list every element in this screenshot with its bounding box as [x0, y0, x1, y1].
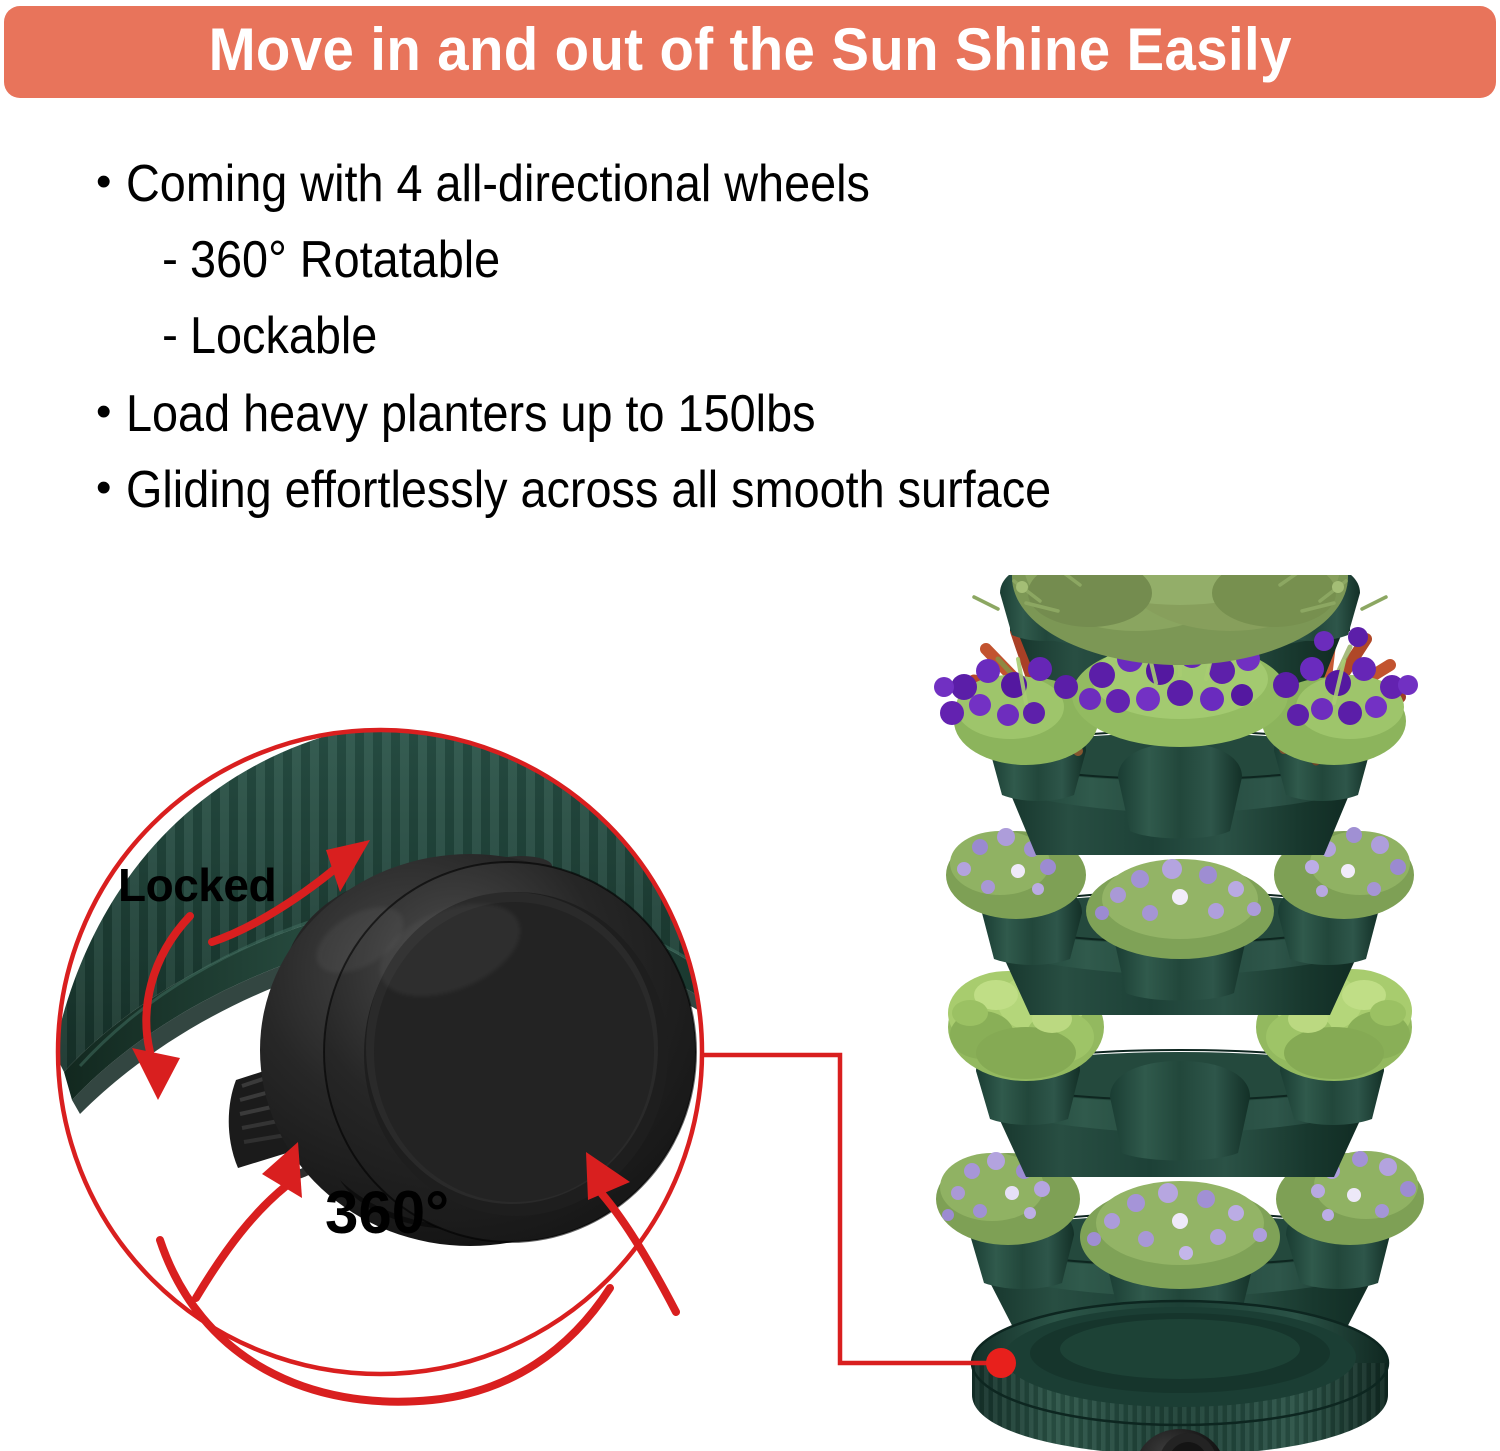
list-item: - Lockable — [96, 306, 1486, 366]
bullet-text: Gliding effortlessly across all smooth s… — [126, 460, 1051, 520]
feature-bullet-list: • Coming with 4 all-directional wheels -… — [96, 154, 1486, 520]
list-item: - 360° Rotatable — [96, 230, 1486, 290]
dash-marker-icon: - — [162, 306, 190, 366]
bullet-dot-icon: • — [96, 154, 126, 210]
caster-wheel-callout: Locked 360° — [40, 700, 760, 1410]
locked-label: Locked — [118, 858, 276, 912]
rotation-label: 360° — [325, 1178, 449, 1247]
planter-tower-illustration — [930, 575, 1430, 1451]
header-banner: Move in and out of the Sun Shine Easily — [4, 6, 1496, 98]
rotation-arc-left-icon — [196, 1142, 302, 1298]
bullet-dot-icon: • — [96, 384, 126, 440]
bullet-text: 360° Rotatable — [190, 230, 500, 290]
rotation-arc-bottom-icon — [160, 1240, 610, 1402]
list-item: • Coming with 4 all-directional wheels — [96, 154, 1486, 214]
list-item: • Gliding effortlessly across all smooth… — [96, 460, 1486, 520]
bullet-text: Load heavy planters up to 150lbs — [126, 384, 816, 444]
bullet-text: Lockable — [190, 306, 377, 366]
bullet-text: Coming with 4 all-directional wheels — [126, 154, 870, 214]
dash-marker-icon: - — [162, 230, 190, 290]
banner-title: Move in and out of the Sun Shine Easily — [208, 20, 1291, 84]
caster-detail-illustration — [40, 700, 760, 1410]
rolling-plant-caddy — [972, 1301, 1388, 1451]
bullet-dot-icon: • — [96, 460, 126, 516]
list-item: • Load heavy planters up to 150lbs — [96, 384, 1486, 444]
stackable-planter-tower — [930, 575, 1430, 1451]
